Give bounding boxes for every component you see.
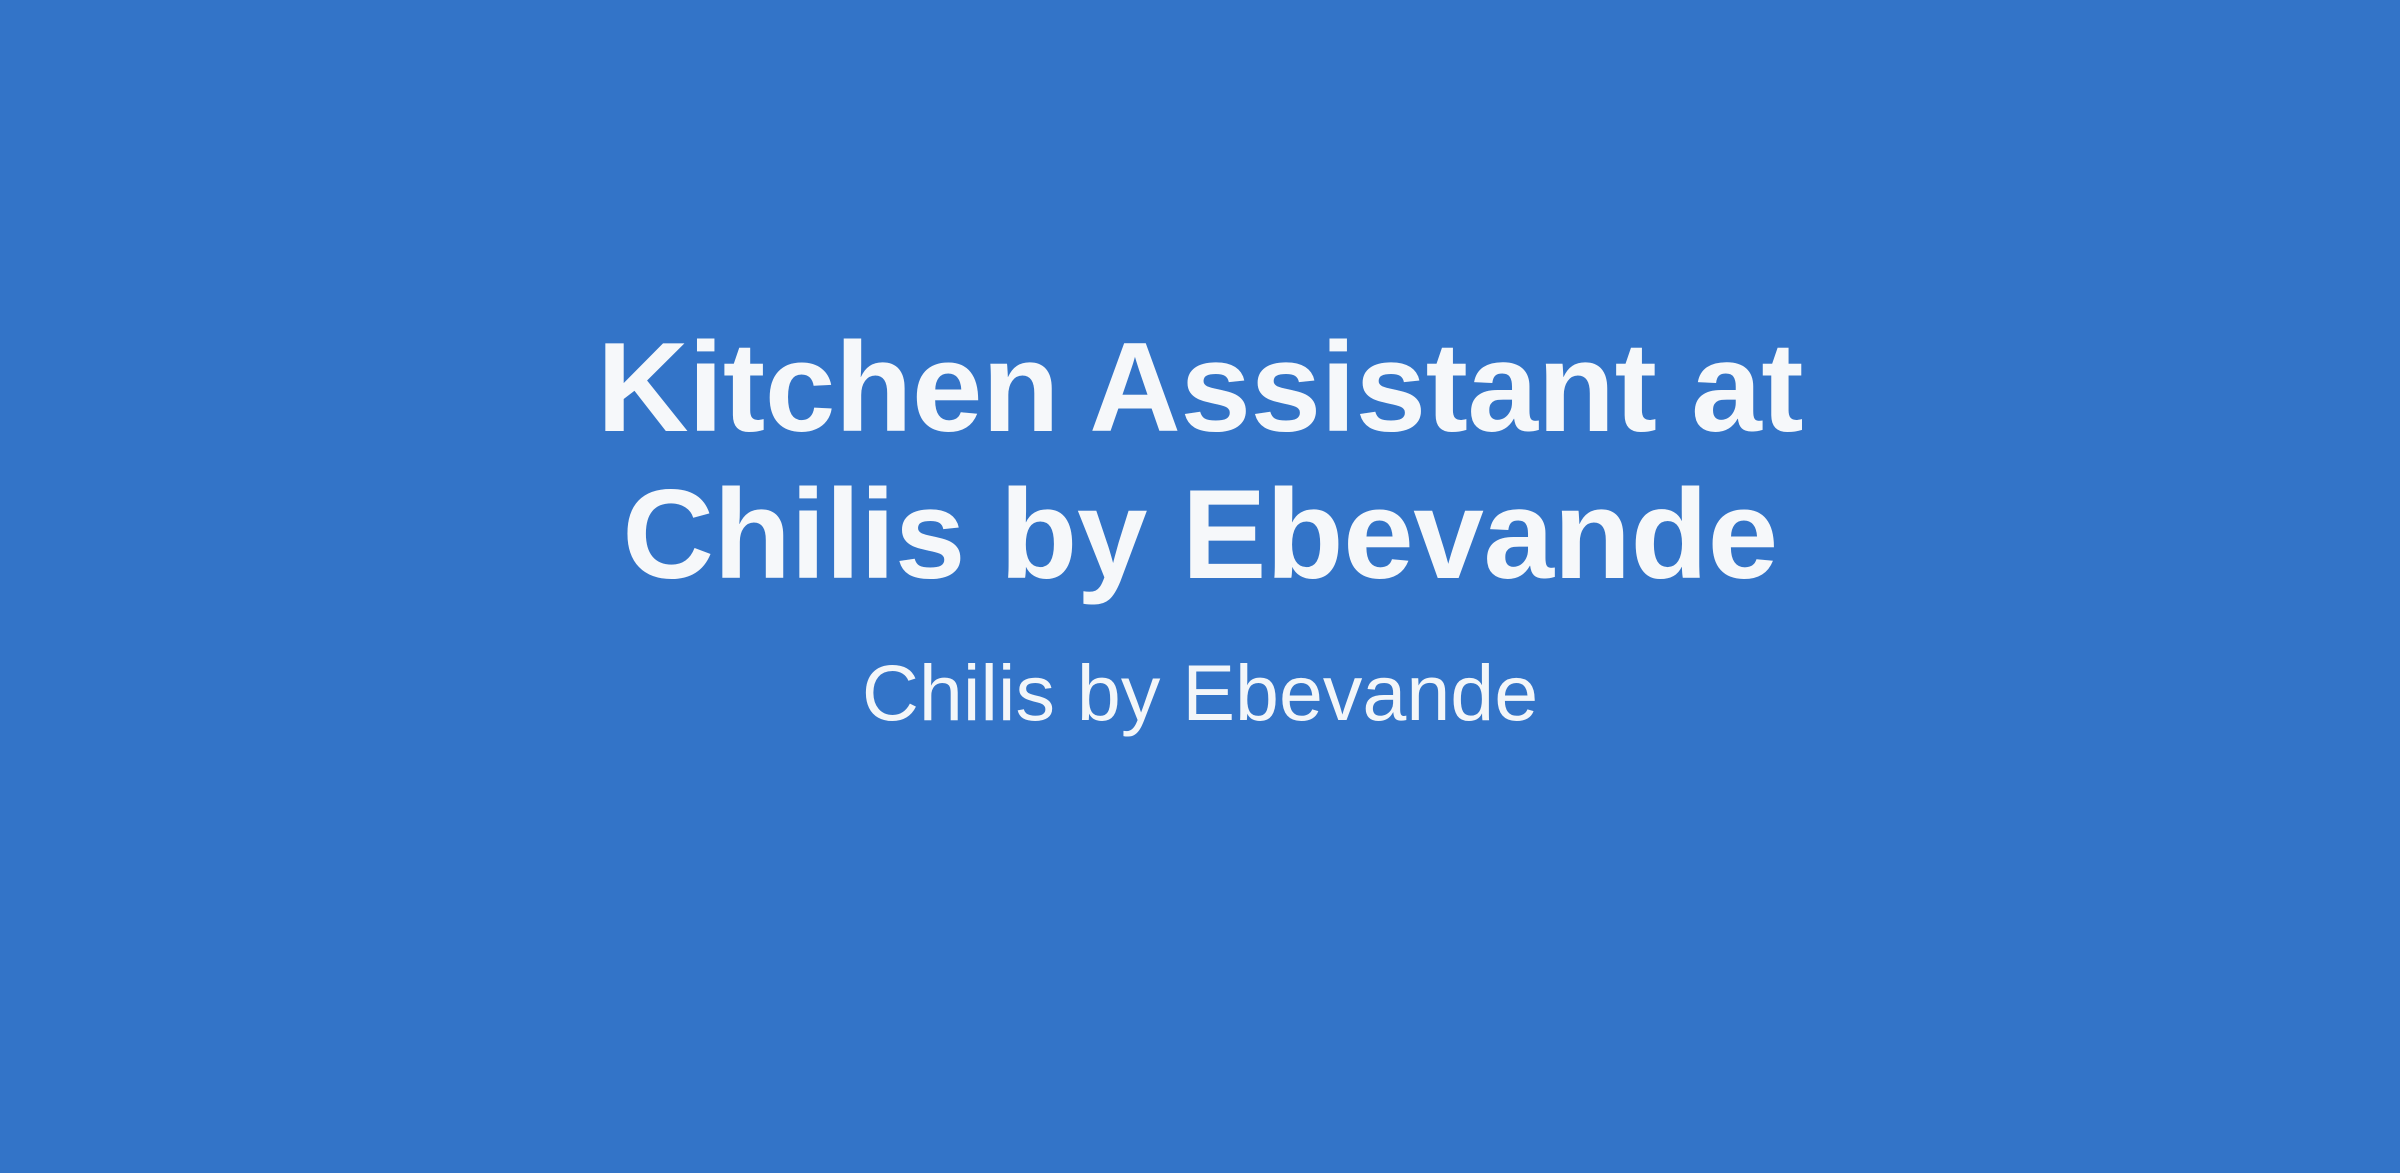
job-card-content: Kitchen Assistant at Chilis by Ebevande … bbox=[430, 314, 1970, 741]
job-title: Kitchen Assistant at Chilis by Ebevande bbox=[440, 314, 1960, 609]
job-posting-card: Kitchen Assistant at Chilis by Ebevande … bbox=[0, 0, 2400, 1173]
company-name: Chilis by Ebevande bbox=[862, 646, 1538, 741]
